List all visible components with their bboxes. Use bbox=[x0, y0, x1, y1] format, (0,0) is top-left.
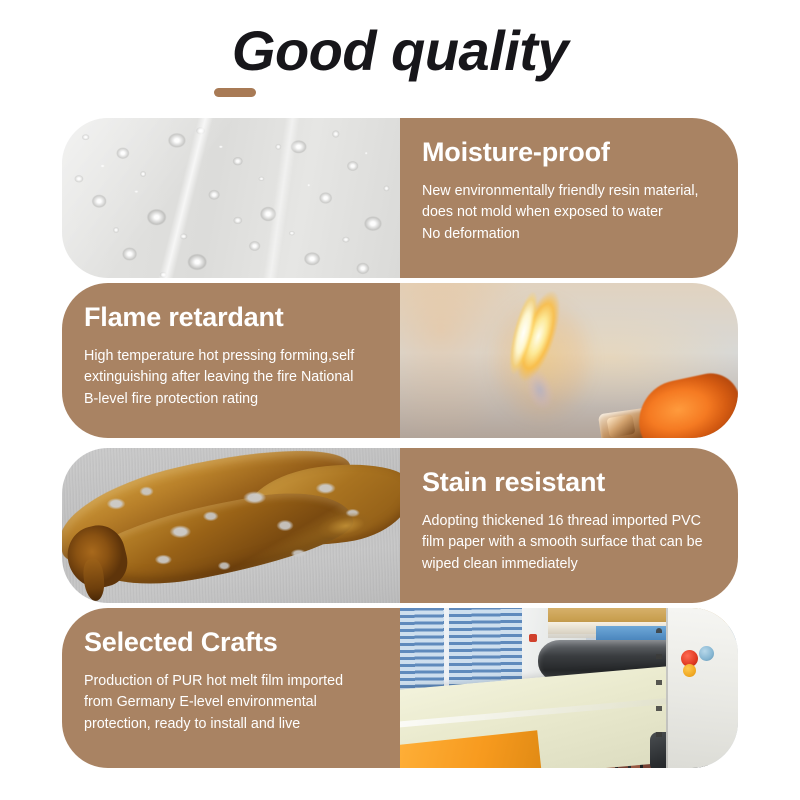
card-body-line: New environmentally friendly resin mater… bbox=[422, 181, 722, 203]
wall-indicator-light bbox=[529, 634, 537, 642]
card-heading: Flame retardant bbox=[84, 303, 384, 333]
card-body-line: No deformation bbox=[422, 224, 722, 246]
laminating-machine-photo bbox=[400, 608, 738, 768]
machine-control-panel bbox=[666, 608, 738, 768]
flame-on-wood-photo bbox=[400, 283, 738, 438]
card-body-line: protection, ready to install and live bbox=[84, 714, 384, 736]
feature-card-flame-retardant: Flame retardant High temperature hot pre… bbox=[62, 283, 738, 438]
card-heading: Moisture-proof bbox=[422, 138, 722, 168]
feature-card-moisture-proof: Moisture-proof New environmentally frien… bbox=[62, 118, 738, 278]
machine-bolt-row bbox=[656, 628, 662, 746]
card-body-line: from Germany E-level environmental bbox=[84, 692, 384, 714]
card-body-line: B-level fire protection rating bbox=[84, 389, 384, 411]
card-body-line: wiped clean immediately bbox=[422, 554, 722, 576]
title-underline-accent bbox=[214, 88, 256, 97]
card-heading: Stain resistant bbox=[422, 468, 722, 498]
feature-text-panel: Moisture-proof New environmentally frien… bbox=[400, 118, 738, 278]
amber-stain-photo bbox=[62, 448, 400, 603]
card-body: New environmentally friendly resin mater… bbox=[422, 181, 722, 246]
page-title: Good quality bbox=[0, 22, 800, 81]
water-droplets-layer-highlights bbox=[62, 118, 400, 278]
infographic-page: Good quality Moisture-proof New environm… bbox=[0, 0, 800, 800]
card-body-line: film paper with a smooth surface that ca… bbox=[422, 532, 722, 554]
card-heading: Selected Crafts bbox=[84, 628, 384, 658]
feature-card-stain-resistant: Stain resistant Adopting thickened 16 th… bbox=[62, 448, 738, 603]
water-droplets-photo bbox=[62, 118, 400, 278]
card-body: High temperature hot pressing forming,se… bbox=[84, 346, 384, 411]
card-body-line: does not mold when exposed to water bbox=[422, 202, 722, 224]
card-body: Production of PUR hot melt film imported… bbox=[84, 671, 384, 736]
card-body-line: Production of PUR hot melt film imported bbox=[84, 671, 384, 693]
feature-text-panel: Flame retardant High temperature hot pre… bbox=[62, 283, 400, 438]
card-body: Adopting thickened 16 thread imported PV… bbox=[422, 511, 722, 576]
card-body-line: extinguishing after leaving the fire Nat… bbox=[84, 367, 384, 389]
card-body-line: Adopting thickened 16 thread imported PV… bbox=[422, 511, 722, 533]
feature-text-panel: Selected Crafts Production of PUR hot me… bbox=[62, 608, 400, 768]
header: Good quality bbox=[0, 0, 800, 112]
card-body-line: High temperature hot pressing forming,se… bbox=[84, 346, 384, 368]
machine-yellow-button bbox=[683, 664, 696, 677]
feature-text-panel: Stain resistant Adopting thickened 16 th… bbox=[400, 448, 738, 603]
machine-blue-button bbox=[699, 646, 714, 661]
feature-card-selected-crafts: Selected Crafts Production of PUR hot me… bbox=[62, 608, 738, 768]
